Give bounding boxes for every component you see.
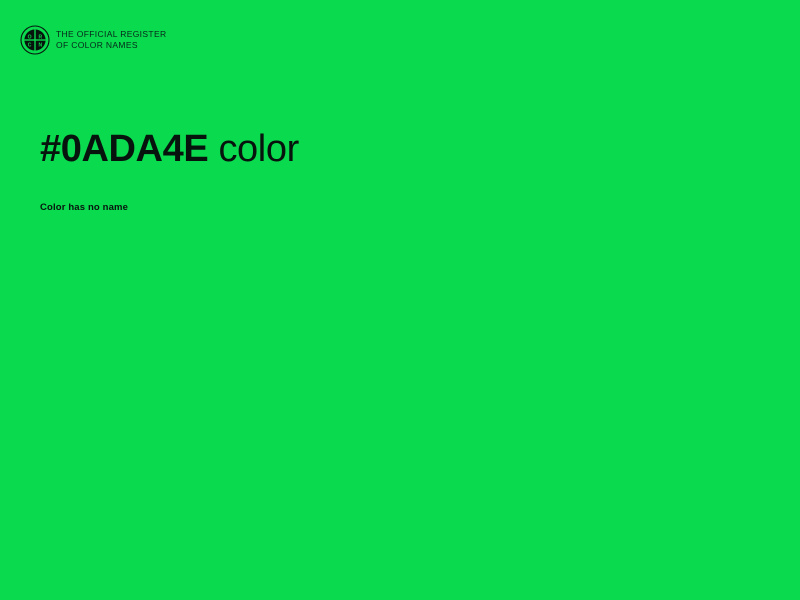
brand-title-line-1: THE OFFICIAL REGISTER	[56, 29, 166, 40]
svg-text:O: O	[28, 34, 32, 40]
page-title-suffix: color	[218, 128, 298, 170]
svg-text:N: N	[39, 42, 43, 48]
svg-text:C: C	[28, 42, 32, 48]
page-title: #0ADA4E color	[40, 128, 740, 172]
brand-title-line-2: OF COLOR NAMES	[56, 40, 166, 51]
color-info-block: #0ADA4E color Color has no name	[40, 128, 740, 213]
color-hex-value: #0ADA4E	[40, 128, 208, 170]
register-seal-icon: O R C N	[20, 25, 50, 55]
svg-text:R: R	[39, 34, 43, 40]
brand-lockup[interactable]: O R C N THE OFFICIAL REGISTER OF COLOR N…	[20, 25, 166, 55]
brand-title: THE OFFICIAL REGISTER OF COLOR NAMES	[56, 29, 166, 51]
color-name-status: Color has no name	[40, 202, 740, 213]
